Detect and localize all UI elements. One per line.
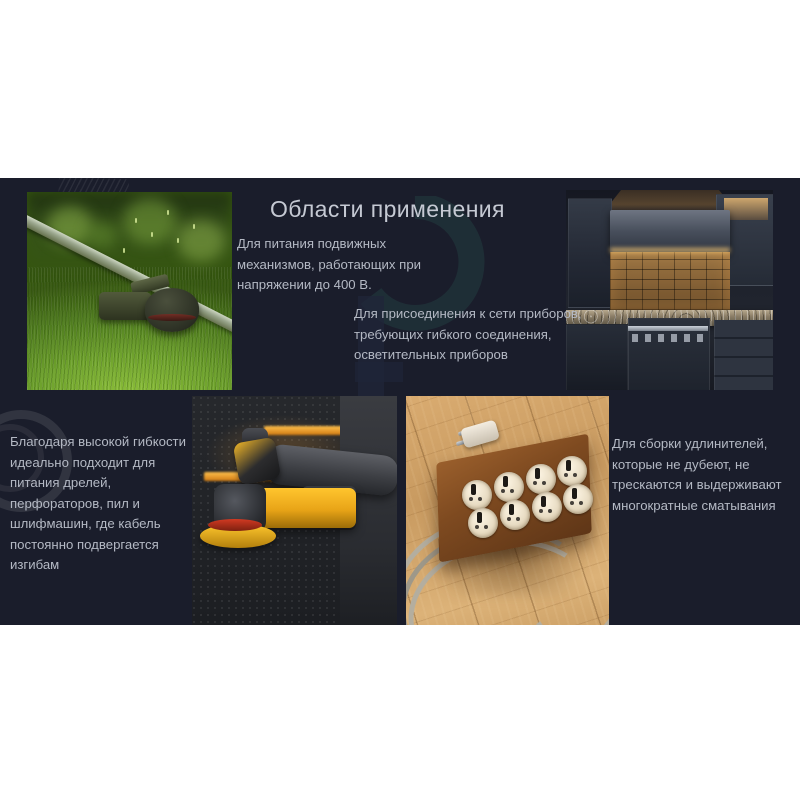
worker-glove: [233, 437, 282, 486]
bokeh-light: [87, 222, 117, 248]
kitchen-drawers: [714, 320, 773, 390]
power-socket: [526, 464, 556, 494]
bokeh-light: [123, 198, 177, 244]
range-knobs: [632, 334, 704, 342]
power-socket: [563, 484, 593, 514]
stone-backsplash: [610, 252, 730, 310]
under-cabinet-light: [610, 248, 730, 255]
power-socket: [557, 456, 587, 486]
slide-canvas: Области применения Для питания подвижных…: [0, 178, 800, 625]
trimmer-cutting-head: [145, 288, 199, 332]
power-socket: [494, 472, 524, 502]
photo-kitchen-interior: [566, 190, 773, 390]
grass-debris: [177, 238, 179, 243]
power-socket: [468, 508, 498, 538]
grass-debris: [135, 218, 137, 223]
paragraph-power-supply-mobile-mechanisms: Для питания подвижных механизмов, работа…: [237, 234, 467, 296]
grass-debris: [123, 248, 125, 253]
paragraph-connecting-devices-to-network: Для присоединения к сети приборов, требу…: [354, 304, 584, 366]
paragraph-high-flexibility-power-tools: Благодаря высокой гибкости идеально подх…: [10, 432, 190, 576]
photo-angle-grinder: [192, 396, 397, 625]
paragraph-extension-cords-assembly: Для сборки удлинителей, которые не дубею…: [612, 434, 792, 516]
bokeh-light: [177, 220, 225, 262]
power-socket: [462, 480, 492, 510]
grass-debris: [151, 232, 153, 237]
prysmian-p-watermark: [345, 196, 485, 404]
power-socket: [532, 492, 562, 522]
cabinet-glass-light: [724, 198, 768, 220]
kitchen-cabinet-left: [568, 198, 612, 308]
grinder-disc: [200, 524, 276, 548]
page-title: Области применения: [270, 196, 570, 223]
power-socket: [500, 500, 530, 530]
grass-blade-texture: [27, 267, 232, 390]
grass-debris: [167, 210, 169, 215]
range-handle-bar: [628, 326, 708, 331]
photo-power-strip: [406, 396, 609, 625]
photo-grass-trimmer: [27, 192, 232, 390]
trimmer-guard: [99, 292, 151, 320]
grass-debris: [193, 224, 195, 229]
